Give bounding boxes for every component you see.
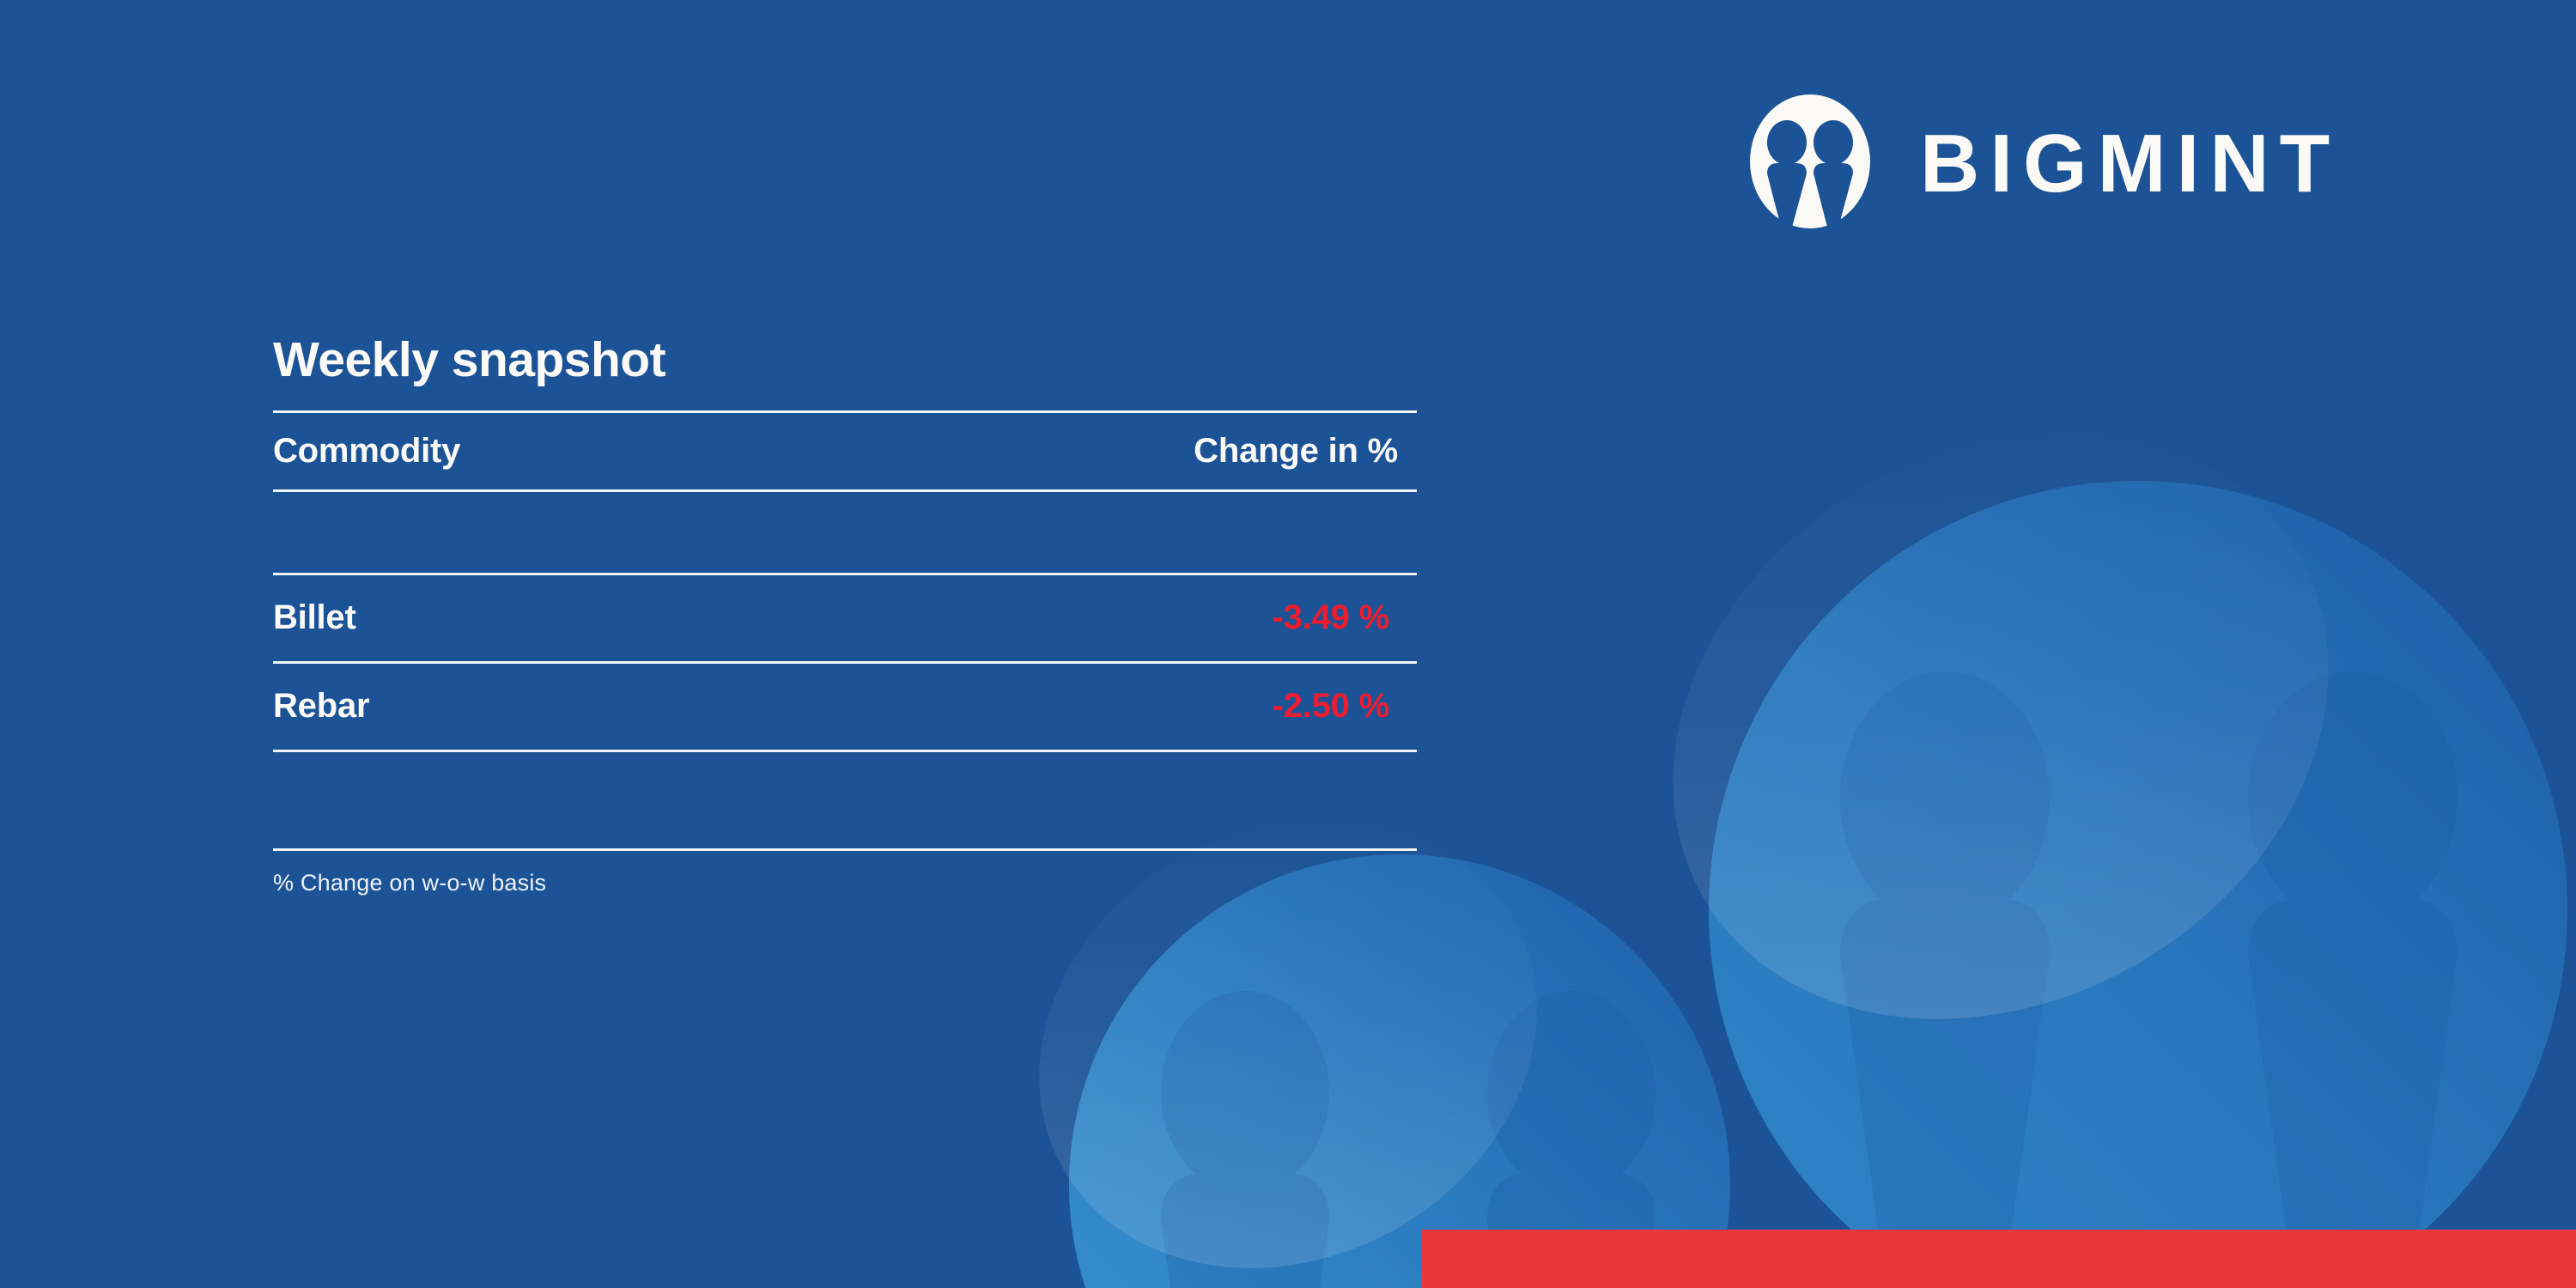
footnote: % Change on w-o-w basis: [273, 870, 1417, 896]
row-value-billet: -3.49 %: [1273, 598, 1417, 637]
page-title: Weekly snapshot: [273, 335, 1417, 386]
table-tail-row: [273, 752, 1417, 848]
table-row: Billet -3.49 %: [273, 575, 1417, 661]
row-label-rebar: Rebar: [273, 687, 369, 726]
bigmint-logo-icon: [1748, 94, 1872, 234]
column-header-commodity: Commodity: [273, 432, 460, 471]
table-header-row: Commodity Change in %: [273, 413, 1417, 489]
table-rule-bottom: [273, 848, 1417, 851]
watermark-sphere-large: [1566, 316, 2567, 1288]
slide-canvas: BIGMINT Weekly snapshot Commodity Change…: [0, 0, 2576, 1288]
table-spacer-row: [273, 492, 1417, 573]
row-value-rebar: -2.50 %: [1273, 687, 1417, 726]
brand-wordmark: BIGMINT: [1920, 123, 2340, 205]
bottom-accent-bar: [1421, 1230, 2576, 1288]
column-header-change: Change in %: [1194, 432, 1417, 471]
table-row: Rebar -2.50 %: [273, 664, 1417, 750]
brand-logo: BIGMINT: [1748, 94, 2340, 234]
row-label-billet: Billet: [273, 598, 356, 637]
weekly-snapshot-panel: Weekly snapshot Commodity Change in % Bi…: [273, 335, 1417, 896]
